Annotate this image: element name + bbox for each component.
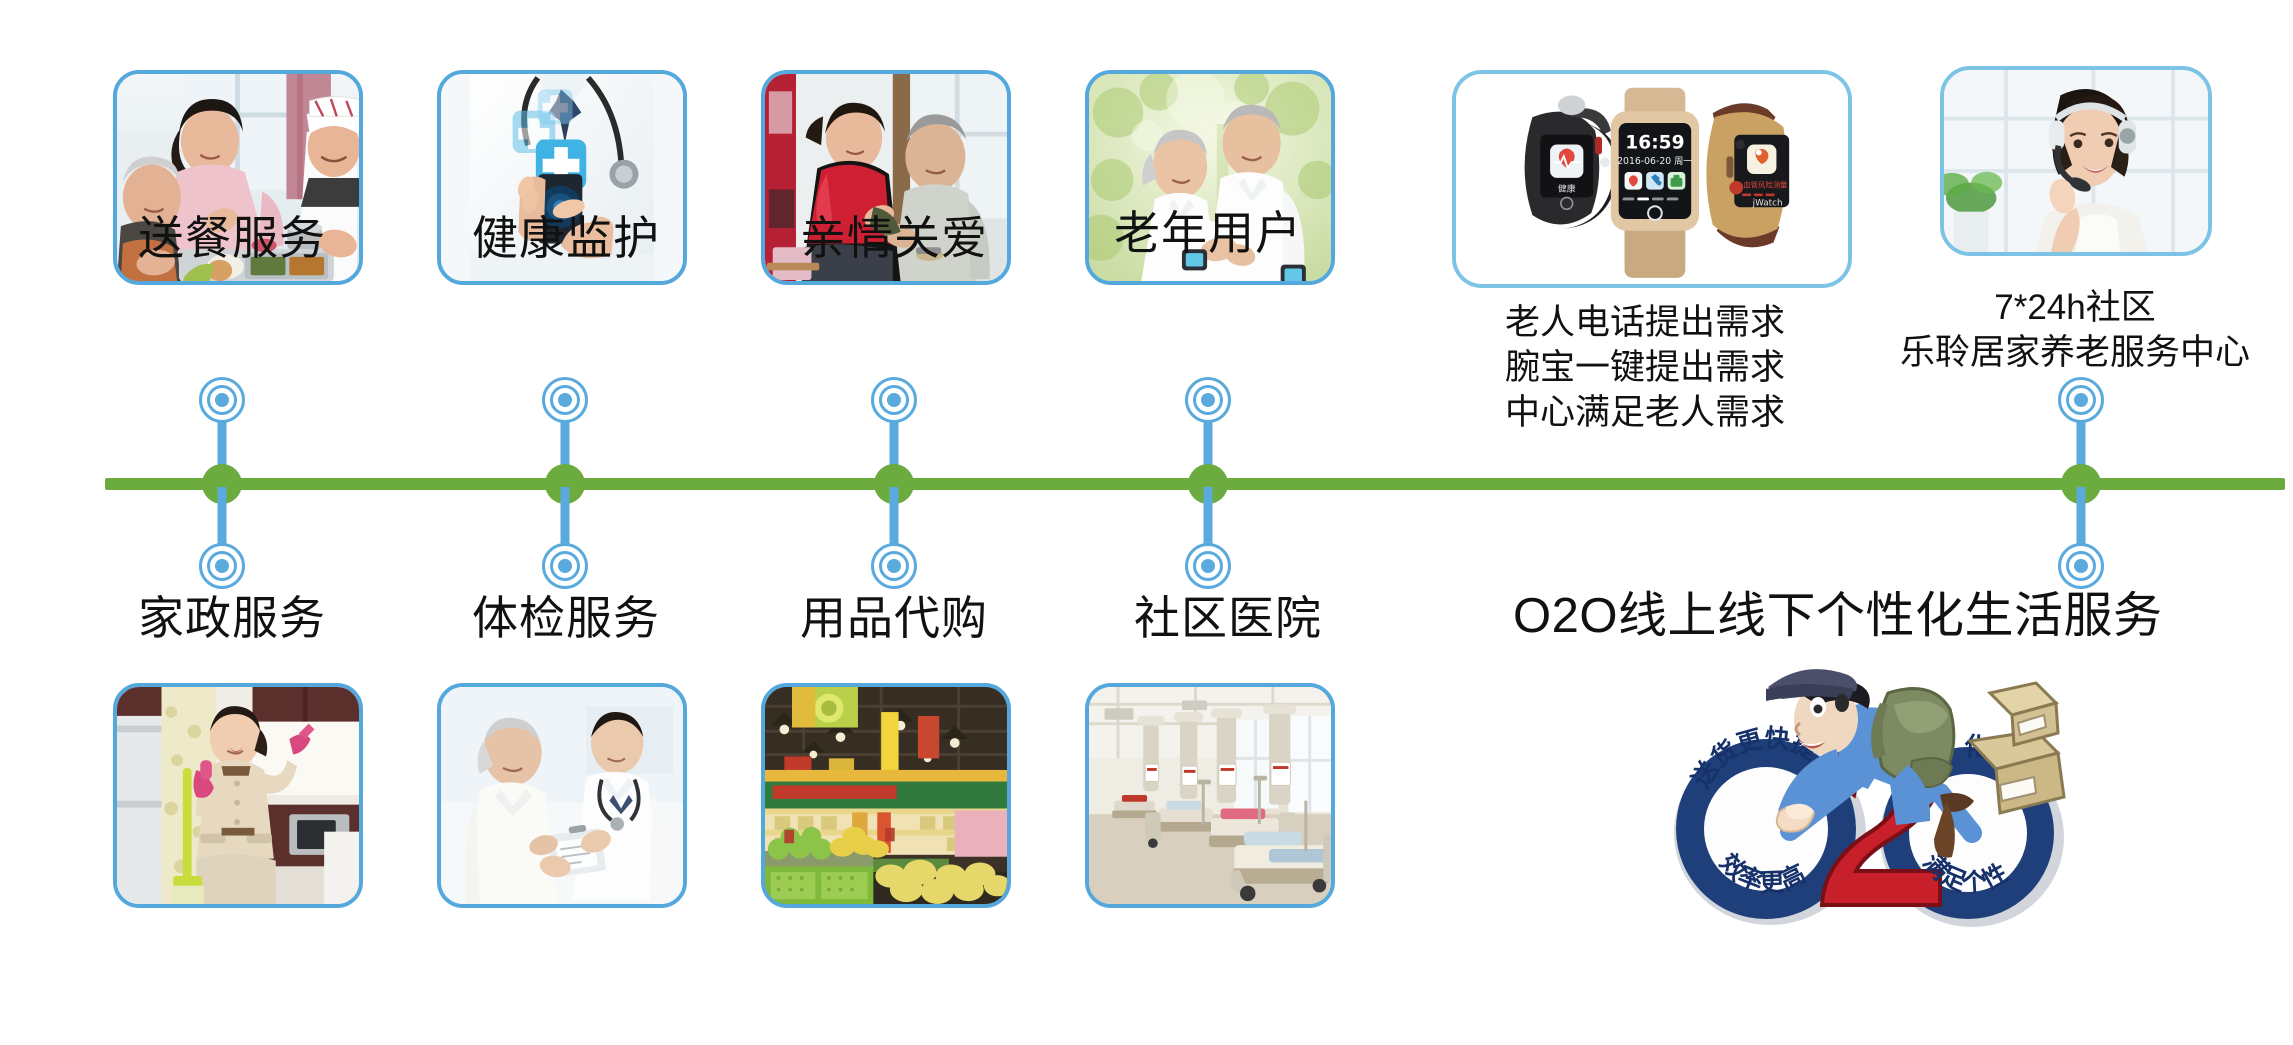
node-marker-bottom-1[interactable] xyxy=(542,543,588,589)
watch-date-text: 2016-06-20 周一 xyxy=(1617,156,1693,167)
o2o-headline: O2O线上线下个性化生活服务 xyxy=(1513,592,2162,641)
ring-dot xyxy=(2074,393,2088,407)
ring-dot xyxy=(1201,559,1215,573)
timeline-axis xyxy=(105,478,2285,490)
node-marker-bottom-3[interactable] xyxy=(1185,543,1231,589)
service-center-caption: 7*24h社区 乐聆居家养老服务中心 xyxy=(1900,285,2250,375)
label-top-2: 亲情关爱 xyxy=(800,215,988,261)
label-top-1: 健康监护 xyxy=(472,215,660,261)
demand-line-3: 中心满足老人需求 xyxy=(1505,390,1785,435)
label-bottom-1: 体检服务 xyxy=(472,595,660,641)
o2o-delivery-logo: 送货更快捷 效率更高 化需求 满足个性 xyxy=(1640,645,2090,1015)
label-top-3: 老年用户 xyxy=(1114,210,1302,256)
caption-line-1: 7*24h社区 xyxy=(1900,285,2250,330)
housekeeping-photo xyxy=(113,683,363,908)
ring-dot xyxy=(215,393,229,407)
node-marker-bottom-0[interactable] xyxy=(199,543,245,589)
label-bottom-2: 用品代购 xyxy=(800,595,988,641)
demand-line-1: 老人电话提出需求 xyxy=(1505,300,1785,345)
caption-line-2: 乐聆居家养老服务中心 xyxy=(1900,330,2250,375)
demand-line-2: 腕宝一键提出需求 xyxy=(1505,345,1785,390)
watch-brand-text: jWatch xyxy=(1752,198,1783,208)
ring-dot xyxy=(887,559,901,573)
node-marker-bottom-4[interactable] xyxy=(2058,543,2104,589)
ring-dot xyxy=(215,559,229,573)
medical-checkup-photo xyxy=(437,683,687,908)
ring-dot xyxy=(887,393,901,407)
svg-text:健康: 健康 xyxy=(1558,183,1576,195)
ring-dot xyxy=(558,393,572,407)
call-center-photo xyxy=(1940,66,2212,256)
label-top-0: 送餐服务 xyxy=(138,215,326,261)
community-hospital-photo xyxy=(1085,683,1335,908)
ring-dot xyxy=(2074,559,2088,573)
watch-time-text: 16:59 xyxy=(1625,132,1684,153)
smartwatch-trio-photo: 健康 16:59 2016-06-20 周一 xyxy=(1452,70,1852,288)
goods-purchasing-photo xyxy=(761,683,1011,908)
ring-dot xyxy=(1201,393,1215,407)
ring-dot xyxy=(558,559,572,573)
node-marker-top-2[interactable] xyxy=(871,377,917,423)
node-marker-top-3[interactable] xyxy=(1185,377,1231,423)
svg-text:心血管风险测量: 心血管风险测量 xyxy=(1736,181,1787,190)
node-marker-top-1[interactable] xyxy=(542,377,588,423)
label-bottom-0: 家政服务 xyxy=(138,595,326,641)
node-marker-bottom-2[interactable] xyxy=(871,543,917,589)
node-marker-top-4[interactable] xyxy=(2058,377,2104,423)
infographic-canvas: 健康 16:59 2016-06-20 周一 xyxy=(0,0,2293,1045)
label-bottom-3: 社区医院 xyxy=(1134,595,1322,641)
node-marker-top-0[interactable] xyxy=(199,377,245,423)
demand-text-block: 老人电话提出需求 腕宝一键提出需求 中心满足老人需求 xyxy=(1505,300,1785,435)
